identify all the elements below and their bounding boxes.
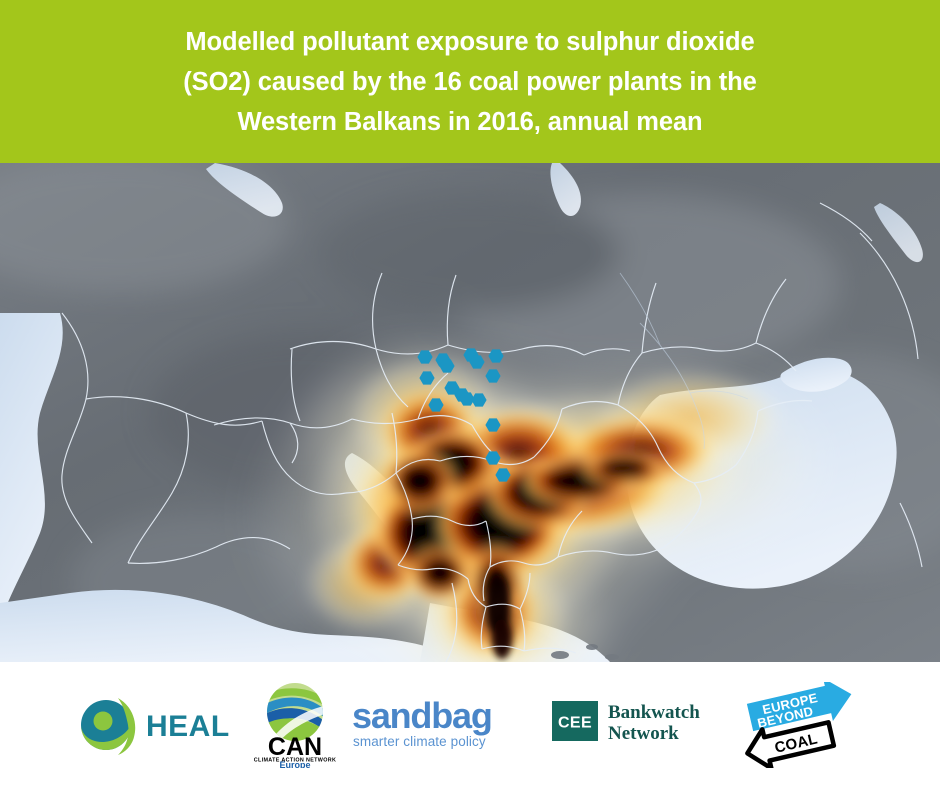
sandbag-logo-graphic: sandbag smarter climate policy [352, 695, 504, 755]
map-graphic [0, 163, 940, 662]
logo-sandbag[interactable]: sandbag smarter climate policy [352, 662, 512, 788]
map-canvas[interactable]: SO2 (µgm⁻³) 0.02 0.13 0.24 0.35 0.46 0.5… [0, 163, 940, 662]
heal-wordmark: HEAL [146, 710, 230, 743]
logo-can-europe[interactable]: CAN CLIMATE ACTION NETWORK Europe [245, 662, 350, 788]
sandbag-wordmark: sandbag [352, 695, 492, 736]
logo-heal[interactable]: HEAL [72, 662, 232, 788]
can-region: Europe [279, 760, 310, 768]
page-title: Modelled pollutant exposure to sulphur d… [90, 22, 850, 142]
bankwatch-line-1: Bankwatch [608, 702, 700, 723]
logo-europe-beyond-coal[interactable]: EUROPE BEYOND COAL [745, 662, 865, 788]
ebc-logo-graphic: EUROPE BEYOND COAL [745, 682, 861, 768]
footer-logo-bar: HEAL CAN [0, 662, 940, 788]
sandbag-tagline: smarter climate policy [353, 734, 486, 749]
partner-logos: HEAL CAN [0, 662, 940, 788]
header-banner: Modelled pollutant exposure to sulphur d… [0, 0, 940, 163]
page-title-line-3: Western Balkans in 2016, annual mean [90, 102, 850, 142]
logo-cee-bankwatch[interactable]: CEE Bankwatch Network [552, 662, 722, 788]
bankwatch-line-2: Network [608, 723, 679, 744]
cee-badge-text: CEE [558, 715, 592, 732]
page-title-line-2: (SO2) caused by the 16 coal power plants… [90, 62, 850, 102]
heal-logo-graphic: HEAL [72, 692, 230, 758]
infographic-page: Modelled pollutant exposure to sulphur d… [0, 0, 940, 788]
can-logo-graphic: CAN CLIMATE ACTION NETWORK Europe [245, 682, 345, 768]
page-title-line-1: Modelled pollutant exposure to sulphur d… [90, 22, 850, 62]
cee-logo-graphic: CEE Bankwatch Network [552, 697, 717, 753]
